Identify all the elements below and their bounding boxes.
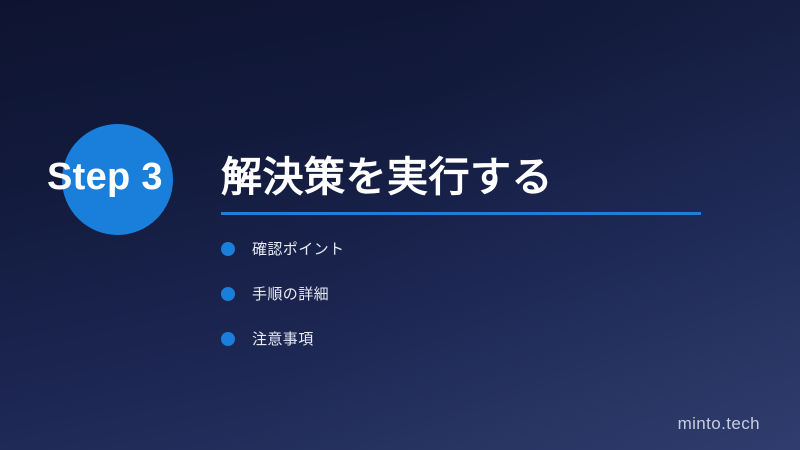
bullet-list: 確認ポイント 手順の詳細 注意事項 [221, 234, 344, 353]
presentation-slide: Step 3 解決策を実行する 確認ポイント 手順の詳細 注意事項 minto.… [0, 0, 800, 450]
bullet-dot-icon [221, 287, 235, 301]
list-item: 注意事項 [221, 324, 344, 353]
bullet-item-label: 注意事項 [252, 328, 314, 349]
title-divider [221, 212, 701, 215]
bullet-item-label: 確認ポイント [252, 238, 344, 259]
list-item: 手順の詳細 [221, 279, 344, 308]
list-item: 確認ポイント [221, 234, 344, 263]
bullet-dot-icon [221, 242, 235, 256]
slide-title: 解決策を実行する [221, 143, 553, 203]
footer-brand-label: minto.tech [678, 414, 760, 434]
bullet-item-label: 手順の詳細 [252, 283, 329, 304]
step-number-label: Step 3 [47, 151, 207, 203]
bullet-dot-icon [221, 332, 235, 346]
